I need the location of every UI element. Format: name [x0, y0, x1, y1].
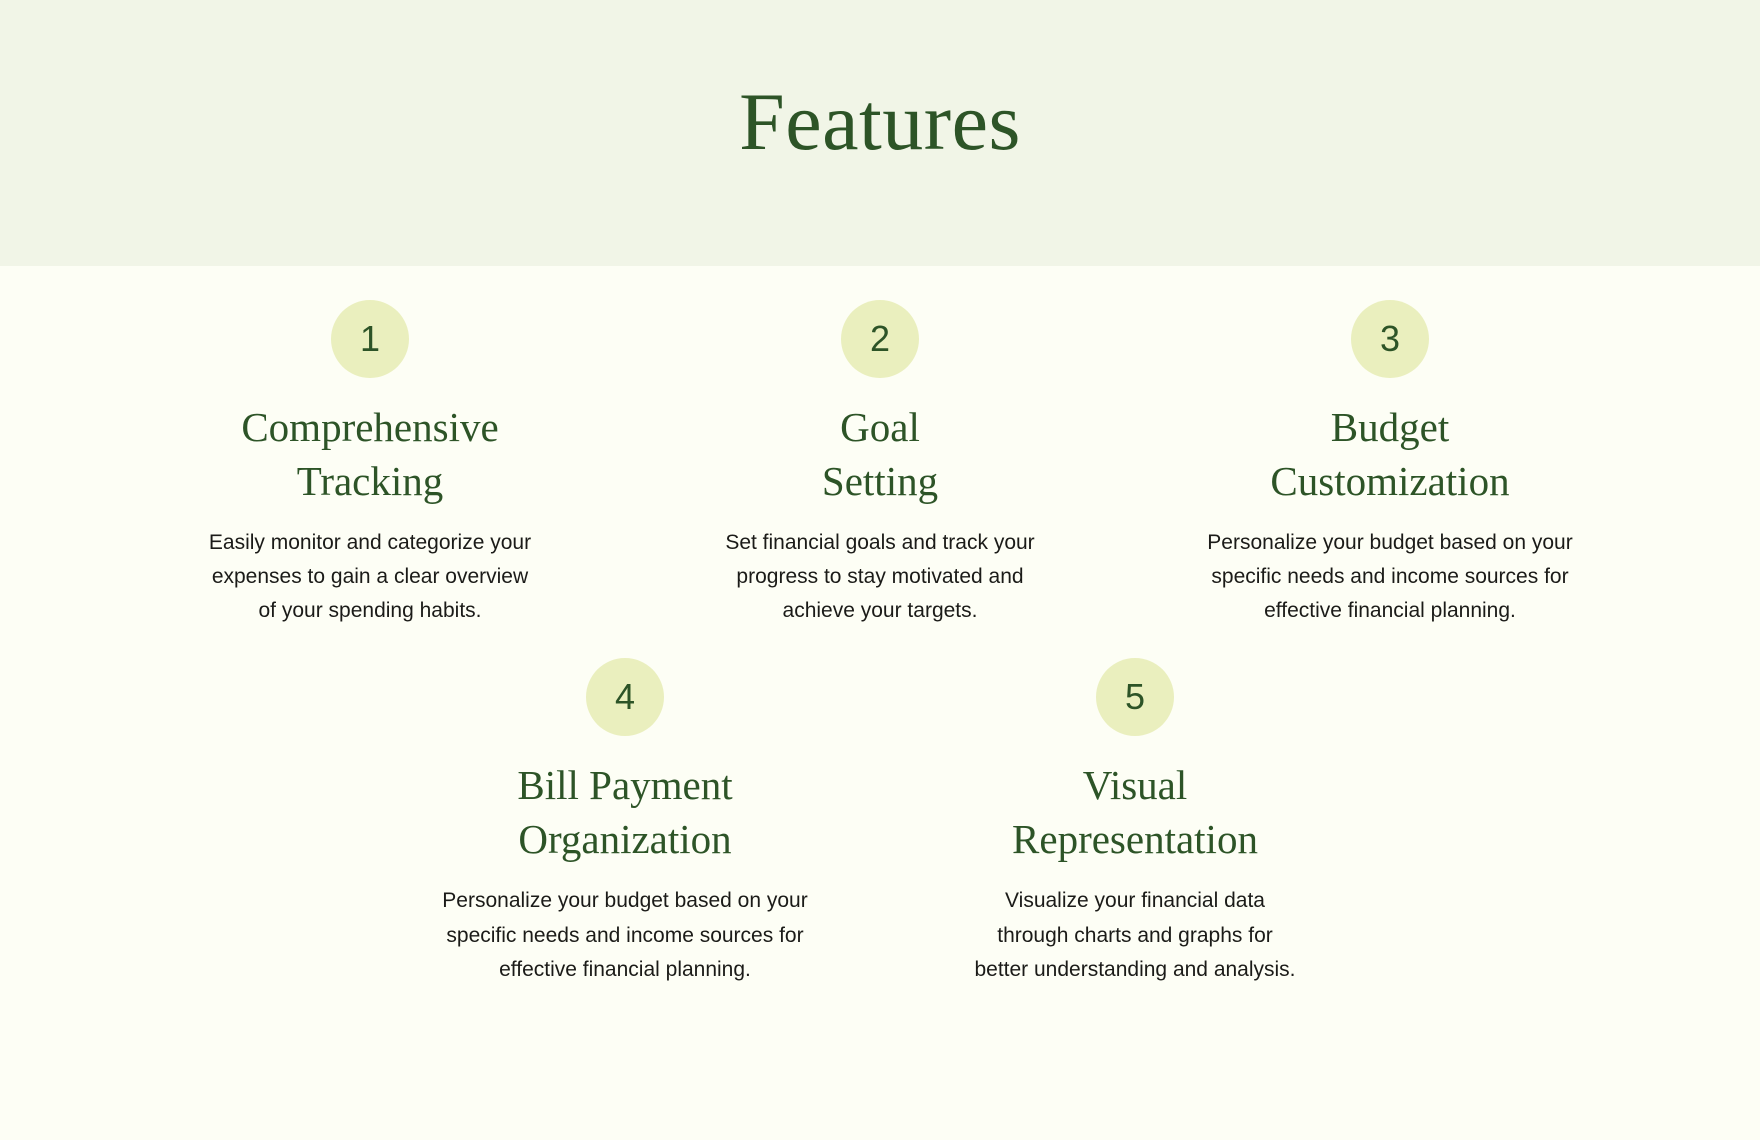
page-title: Features	[739, 81, 1021, 185]
feature-heading-2-line1: Goal	[822, 400, 938, 454]
feature-heading-3-line1: Budget	[1270, 400, 1509, 454]
feature-card-3: 3 Budget Customization Personalize your …	[1155, 300, 1625, 628]
feature-description-2-line1: Set financial goals and track your	[725, 526, 1034, 560]
feature-description-1-line3: of your spending habits.	[209, 594, 531, 628]
feature-heading-5: Visual Representation	[1012, 758, 1258, 866]
feature-card-4: 4 Bill Payment Organization Personalize …	[390, 658, 860, 986]
feature-description-3: Personalize your budget based on your sp…	[1207, 526, 1572, 628]
feature-heading-1: Comprehensive Tracking	[241, 400, 498, 508]
feature-number-5: 5	[1125, 679, 1145, 715]
feature-card-2: 2 Goal Setting Set financial goals and t…	[645, 300, 1115, 628]
feature-number-1: 1	[360, 321, 380, 357]
feature-number-badge-3: 3	[1351, 300, 1429, 378]
feature-heading-1-line1: Comprehensive	[241, 400, 498, 454]
feature-description-5-line1: Visualize your financial data	[974, 884, 1295, 918]
feature-number-3: 3	[1380, 321, 1400, 357]
feature-heading-4: Bill Payment Organization	[517, 758, 732, 866]
feature-description-1-line1: Easily monitor and categorize your	[209, 526, 531, 560]
feature-description-3-line1: Personalize your budget based on your	[1207, 526, 1572, 560]
feature-row-top: 1 Comprehensive Tracking Easily monitor …	[0, 266, 1760, 628]
feature-description-4-line1: Personalize your budget based on your	[442, 884, 807, 918]
feature-description-4-line2: specific needs and income sources for	[442, 919, 807, 953]
feature-heading-2: Goal Setting	[822, 400, 938, 508]
feature-heading-4-line1: Bill Payment	[517, 758, 732, 812]
feature-description-2: Set financial goals and track your progr…	[725, 526, 1034, 628]
feature-number-badge-4: 4	[586, 658, 664, 736]
feature-card-5: 5 Visual Representation Visualize your f…	[900, 658, 1370, 986]
header-band: Features	[0, 0, 1760, 266]
feature-heading-4-line2: Organization	[517, 812, 732, 866]
feature-description-5-line2: through charts and graphs for	[974, 919, 1295, 953]
feature-number-2: 2	[870, 321, 890, 357]
feature-number-badge-2: 2	[841, 300, 919, 378]
feature-heading-3: Budget Customization	[1270, 400, 1509, 508]
feature-heading-5-line1: Visual	[1012, 758, 1258, 812]
feature-number-badge-1: 1	[331, 300, 409, 378]
feature-card-1: 1 Comprehensive Tracking Easily monitor …	[135, 300, 605, 628]
features-section: 1 Comprehensive Tracking Easily monitor …	[0, 266, 1760, 1140]
feature-description-1: Easily monitor and categorize your expen…	[209, 526, 531, 628]
feature-description-1-line2: expenses to gain a clear overview	[209, 560, 531, 594]
feature-heading-2-line2: Setting	[822, 454, 938, 508]
feature-description-5: Visualize your financial data through ch…	[974, 884, 1295, 986]
feature-number-badge-5: 5	[1096, 658, 1174, 736]
feature-number-4: 4	[615, 679, 635, 715]
feature-heading-1-line2: Tracking	[241, 454, 498, 508]
feature-description-2-line2: progress to stay motivated and	[725, 560, 1034, 594]
feature-row-bottom: 4 Bill Payment Organization Personalize …	[0, 628, 1760, 986]
feature-heading-5-line2: Representation	[1012, 812, 1258, 866]
feature-description-4: Personalize your budget based on your sp…	[442, 884, 807, 986]
feature-description-4-line3: effective financial planning.	[442, 953, 807, 987]
feature-description-3-line2: specific needs and income sources for	[1207, 560, 1572, 594]
feature-description-5-line3: better understanding and analysis.	[974, 953, 1295, 987]
feature-description-3-line3: effective financial planning.	[1207, 594, 1572, 628]
feature-description-2-line3: achieve your targets.	[725, 594, 1034, 628]
feature-heading-3-line2: Customization	[1270, 454, 1509, 508]
